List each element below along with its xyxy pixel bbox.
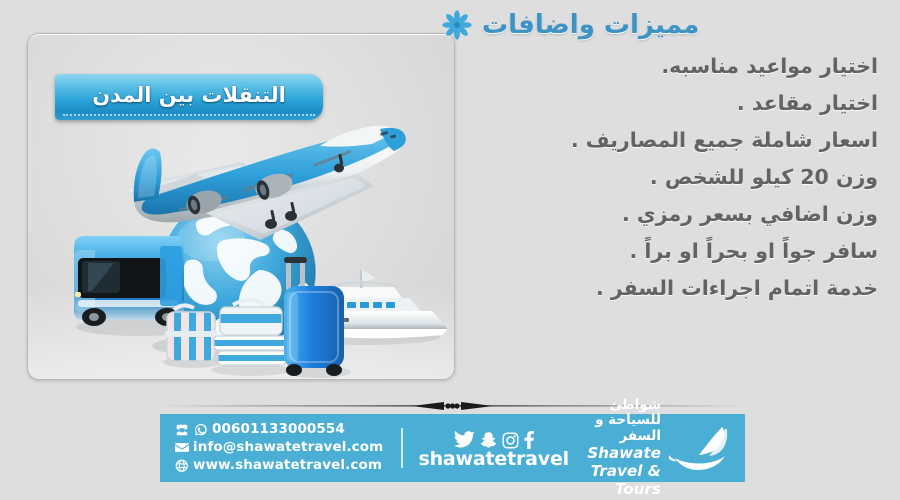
feature-item: اختيار مواعيد مناسبه.	[442, 56, 882, 77]
feature-item: اختيار مقاعد .	[442, 93, 882, 114]
twitter-icon[interactable]	[454, 431, 475, 449]
features-panel: مميزات واضافات اختيار مواعيد مناسبه. اخت…	[442, 10, 882, 315]
flower-asterisk-icon	[442, 10, 472, 40]
hero-ribbon-label: التنقلات بين المدن	[55, 74, 323, 120]
advertisement-page: التنقلات بين المدن	[0, 0, 900, 500]
feature-item: خدمة اتمام اجراءات السفر .	[442, 278, 882, 299]
sailboat-dhow-icon	[667, 425, 729, 471]
feature-item: وزن 20 كيلو للشخص .	[442, 167, 882, 188]
footer-bar: 00601133000554 info@shawatetravel.com ww…	[160, 414, 745, 482]
brand-name-arabic: شواطئ للسياحة و السفر	[569, 398, 661, 445]
social-handle: shawatetravel	[419, 450, 569, 469]
email-address: info@shawatetravel.com	[193, 439, 383, 457]
facebook-icon[interactable]	[524, 431, 534, 449]
phone-number: 00601133000554	[212, 421, 345, 439]
brand-block: شواطئ للسياحة و السفر Shawate Travel & T…	[569, 398, 729, 499]
envelope-icon	[174, 441, 189, 455]
feature-item: سافر جواً او بحراً او براً .	[442, 241, 882, 262]
airplane-illustration	[116, 126, 406, 240]
globe-icon	[174, 459, 189, 473]
contact-website-row[interactable]: www.shawatetravel.com	[174, 457, 383, 475]
features-heading: مميزات واضافات	[442, 10, 882, 40]
telephone-icon	[174, 423, 189, 437]
feature-item: اسعار شاملة جميع المصاريف .	[442, 130, 882, 151]
snapchat-icon[interactable]	[480, 431, 497, 449]
social-block: shawatetravel	[419, 427, 569, 469]
brand-name-english: Shawate Travel & Tours	[569, 444, 661, 498]
social-icons	[419, 427, 569, 449]
contact-phone-row[interactable]: 00601133000554	[174, 421, 383, 439]
hero-image-card: التنقلات بين المدن	[27, 33, 455, 380]
feature-item: وزن اضافي بسعر رمزي .	[442, 204, 882, 225]
contact-email-row[interactable]: info@shawatetravel.com	[174, 439, 383, 457]
brand-text: شواطئ للسياحة و السفر Shawate Travel & T…	[569, 398, 661, 499]
contact-block: 00601133000554 info@shawatetravel.com ww…	[174, 421, 383, 475]
features-heading-text: مميزات واضافات	[482, 11, 699, 40]
hero-ribbon: التنقلات بين المدن	[55, 74, 323, 120]
website-url: www.shawatetravel.com	[193, 457, 382, 475]
instagram-icon[interactable]	[502, 432, 519, 449]
footer-divider	[401, 428, 402, 468]
whatsapp-icon	[193, 423, 208, 437]
